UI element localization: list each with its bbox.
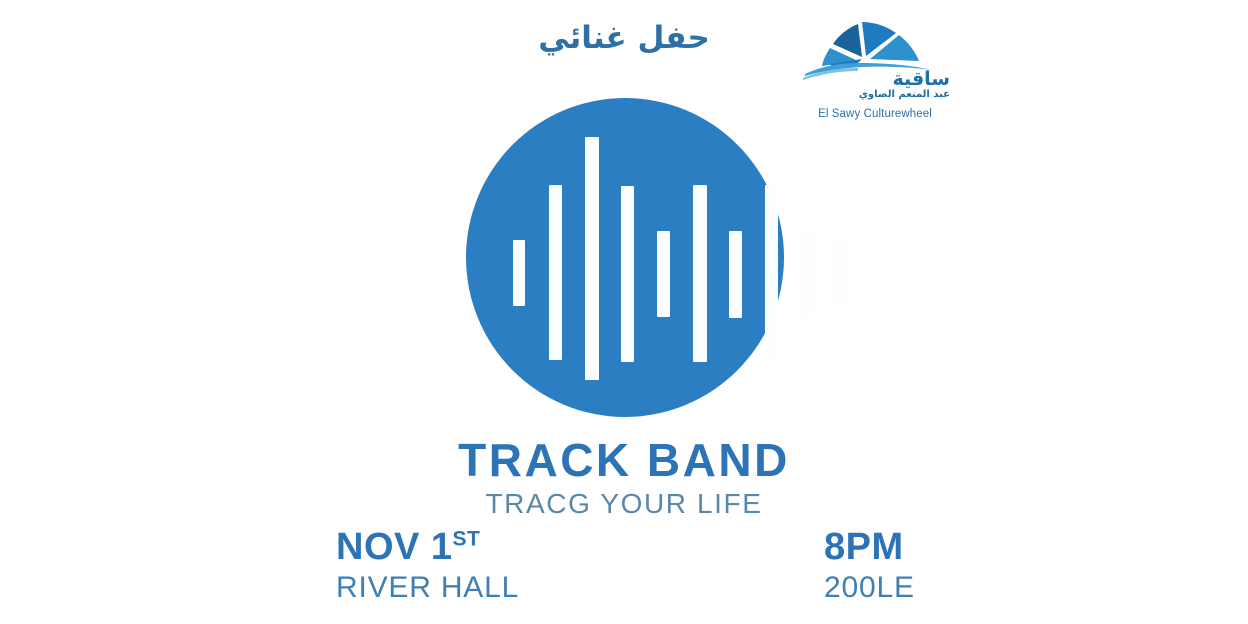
waveform-bar [693, 185, 707, 362]
band-name: TRACK BAND [0, 437, 1248, 483]
waveform-bar [621, 186, 634, 362]
sponsor-arabic-line1: ساقية [800, 70, 950, 89]
sponsor-arabic-line2: عبد المنعم الصاوي [800, 89, 950, 100]
waveform-bar [657, 231, 670, 317]
audio-waveform-icon [466, 98, 784, 417]
waveform-bar [729, 231, 742, 318]
sponsor-english-name: El Sawy Culturewheel [800, 108, 950, 120]
waveform-bar [801, 232, 813, 318]
waveform-bar [765, 185, 778, 361]
event-time: 8PM [824, 528, 915, 567]
event-price: 200LE [824, 571, 915, 604]
waveform-bar [585, 137, 599, 380]
concert-poster: حفل غنائي ساقية عبد المنعم الصاوي El Saw… [0, 0, 1248, 624]
arabic-headline: حفل غنائي [0, 20, 1248, 57]
band-tagline: TRACG YOUR LIFE [0, 490, 1248, 518]
event-time-price: 8PM 200LE [824, 528, 915, 604]
event-date-venue: NOV 1ST RIVER HALL [336, 528, 519, 604]
event-venue: RIVER HALL [336, 571, 519, 604]
sponsor-arabic-name: ساقية عبد المنعم الصاوي [800, 70, 950, 100]
sponsor-logo: ساقية عبد المنعم الصاوي El Sawy Culturew… [800, 18, 950, 122]
waveform-bar [834, 239, 846, 306]
event-date-text: NOV 1 [336, 526, 453, 568]
waveform-bars [466, 98, 784, 417]
waveform-bar [549, 185, 562, 360]
waveform-bar [513, 240, 525, 306]
event-date: NOV 1ST [336, 528, 519, 567]
event-date-ordinal: ST [453, 527, 481, 550]
